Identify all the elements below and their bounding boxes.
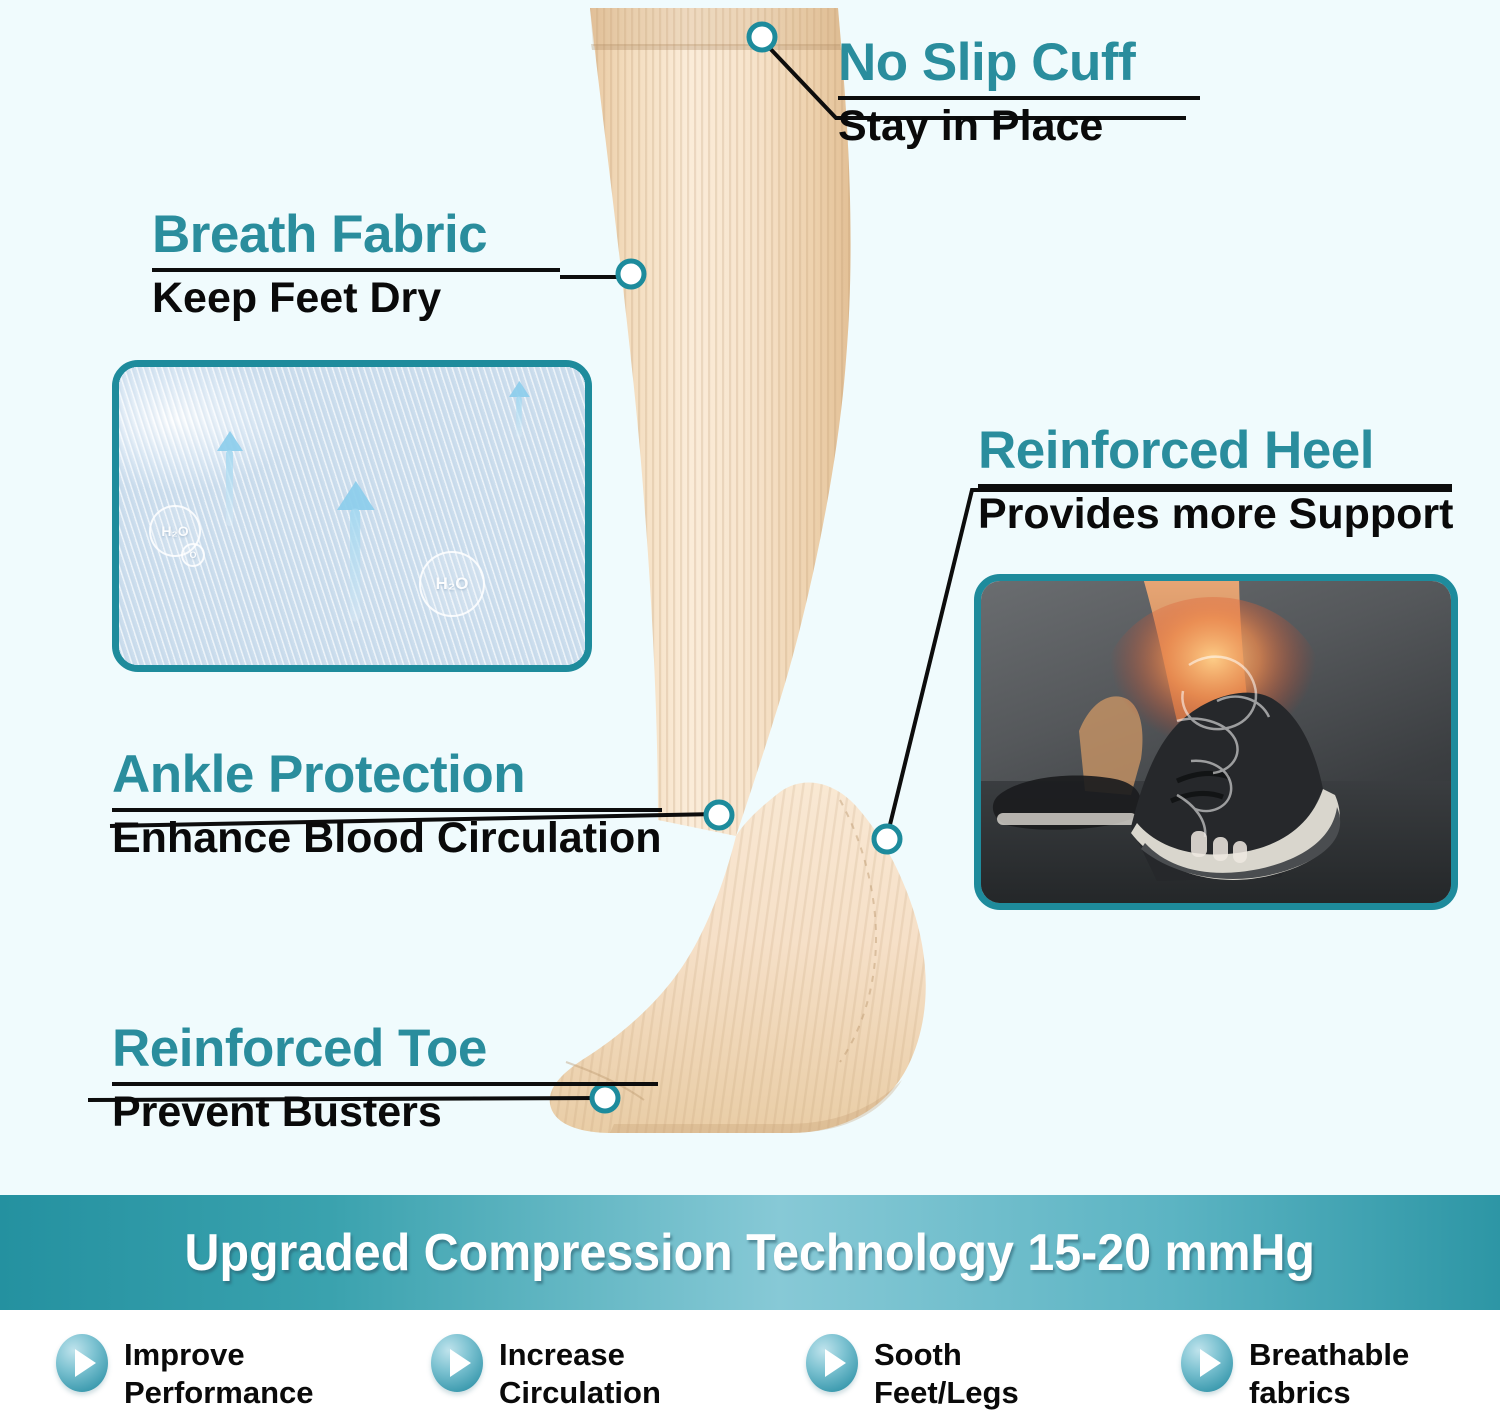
callout-title: Reinforced Toe xyxy=(112,1022,658,1075)
feature-benefits-row: Improve Performance Increase Circulation… xyxy=(0,1310,1500,1422)
feature-label: Sooth Feet/Legs xyxy=(874,1334,1019,1412)
callout-ankle-protection: Ankle Protection Enhance Blood Circulati… xyxy=(112,748,662,861)
callout-underline xyxy=(112,1082,658,1086)
callout-title: Ankle Protection xyxy=(112,748,662,801)
callout-underline xyxy=(838,96,1200,100)
play-icon xyxy=(806,1334,858,1392)
callout-underline xyxy=(112,808,662,812)
compression-technology-banner: Upgraded Compression Technology 15-20 mm… xyxy=(0,1195,1500,1310)
play-icon xyxy=(1181,1334,1233,1392)
feature-item-breathable-fabrics: Breathable fabrics xyxy=(1125,1334,1500,1412)
callout-breath-fabric: Breath Fabric Keep Feet Dry xyxy=(152,208,560,321)
h2o-bubble-label: H₂O xyxy=(419,551,485,617)
callout-subtitle: Enhance Blood Circulation xyxy=(112,816,662,861)
feature-item-sooth-feet-legs: Sooth Feet/Legs xyxy=(750,1334,1125,1412)
callout-subtitle: Provides more Support xyxy=(978,492,1452,537)
feature-label: Breathable fabrics xyxy=(1249,1334,1409,1412)
callout-underline xyxy=(152,268,560,272)
h2o-bubble-small: O xyxy=(181,543,205,567)
play-icon xyxy=(56,1334,108,1392)
fabric-photo-inner: H₂O O H₂O xyxy=(119,367,585,665)
callout-title: Reinforced Heel xyxy=(978,424,1452,477)
callout-reinforced-heel: Reinforced Heel Provides more Support xyxy=(978,424,1452,537)
play-icon xyxy=(431,1334,483,1392)
callout-title: Breath Fabric xyxy=(152,208,560,261)
callout-subtitle: Stay in Place xyxy=(838,104,1200,149)
callout-underline xyxy=(978,484,1452,488)
callout-subtitle: Prevent Busters xyxy=(112,1090,658,1135)
callout-subtitle: Keep Feet Dry xyxy=(152,276,560,321)
fabric-closeup-photo: H₂O O H₂O xyxy=(112,360,592,672)
banner-headline: Upgraded Compression Technology 15-20 mm… xyxy=(185,1223,1315,1283)
heel-photo-inner xyxy=(981,581,1451,903)
callout-no-slip-cuff: No Slip Cuff Stay in Place xyxy=(838,36,1200,149)
feature-item-increase-circulation: Increase Circulation xyxy=(375,1334,750,1412)
product-infographic: No Slip Cuff Stay in Place Breath Fabric… xyxy=(0,0,1500,1422)
feature-label: Increase Circulation xyxy=(499,1334,661,1412)
compression-sock-illustration xyxy=(540,0,970,1140)
callout-title: No Slip Cuff xyxy=(838,36,1200,89)
infographic-canvas: No Slip Cuff Stay in Place Breath Fabric… xyxy=(0,0,1500,1195)
heel-support-photo xyxy=(974,574,1458,910)
feature-item-improve-performance: Improve Performance xyxy=(0,1334,375,1412)
callout-reinforced-toe: Reinforced Toe Prevent Busters xyxy=(112,1022,658,1135)
feature-label: Improve Performance xyxy=(124,1334,314,1412)
